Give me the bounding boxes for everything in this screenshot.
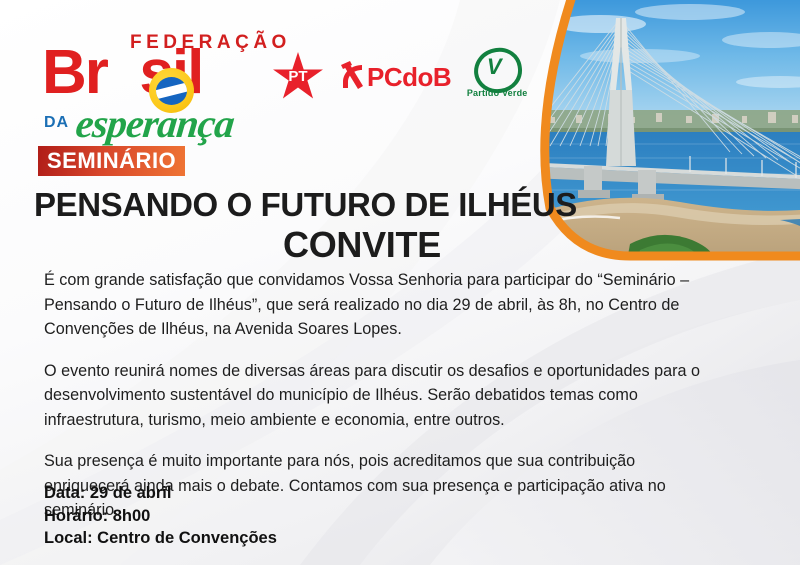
event-details: Data: 29 de abril Horário: 8h00 Local: C… (44, 482, 277, 550)
body-paragraph-1: É com grande satisfação que convidamos V… (44, 268, 704, 342)
pt-abbr-label: PT (272, 68, 324, 85)
globe-band (156, 81, 187, 100)
bridge-photo-image (480, 0, 800, 266)
logo-brasil-prefix: Br (42, 38, 107, 107)
convite-subtitle: CONVITE (283, 224, 441, 266)
hammer-sickle-icon (338, 61, 368, 93)
event-date: Data: 29 de abril (44, 482, 277, 505)
logo-da-text: DA (44, 114, 69, 132)
event-title: PENSANDO O FUTURO DE ILHÉUS (34, 186, 577, 224)
pv-letter-v: V (474, 54, 514, 80)
invitation-poster: FEDERAÇÃO Brasil DA esperança PT PCdoB (0, 0, 800, 565)
logo-esperanca-text: esperança (74, 100, 237, 147)
body-paragraph-2: O evento reunirá nomes de diversas áreas… (44, 359, 704, 433)
pcdob-logo: PCdoB (338, 56, 451, 98)
bridge-photo-panel (480, 0, 800, 266)
seminario-badge: SEMINÁRIO (38, 146, 185, 176)
partido-verde-label: Partido Verde (465, 88, 529, 98)
pt-logo: PT (272, 52, 324, 102)
event-place: Local: Centro de Convenções (44, 527, 277, 550)
event-time: Horário: 8h00 (44, 505, 277, 528)
pcdob-abbr-label: PCdoB (367, 62, 451, 93)
partido-verde-logo: V Partido Verde (465, 48, 529, 106)
federacao-brasil-esperanca-logo: FEDERAÇÃO Brasil DA esperança (42, 26, 272, 138)
party-logos-group: PT PCdoB V Partido Verde (272, 48, 529, 106)
